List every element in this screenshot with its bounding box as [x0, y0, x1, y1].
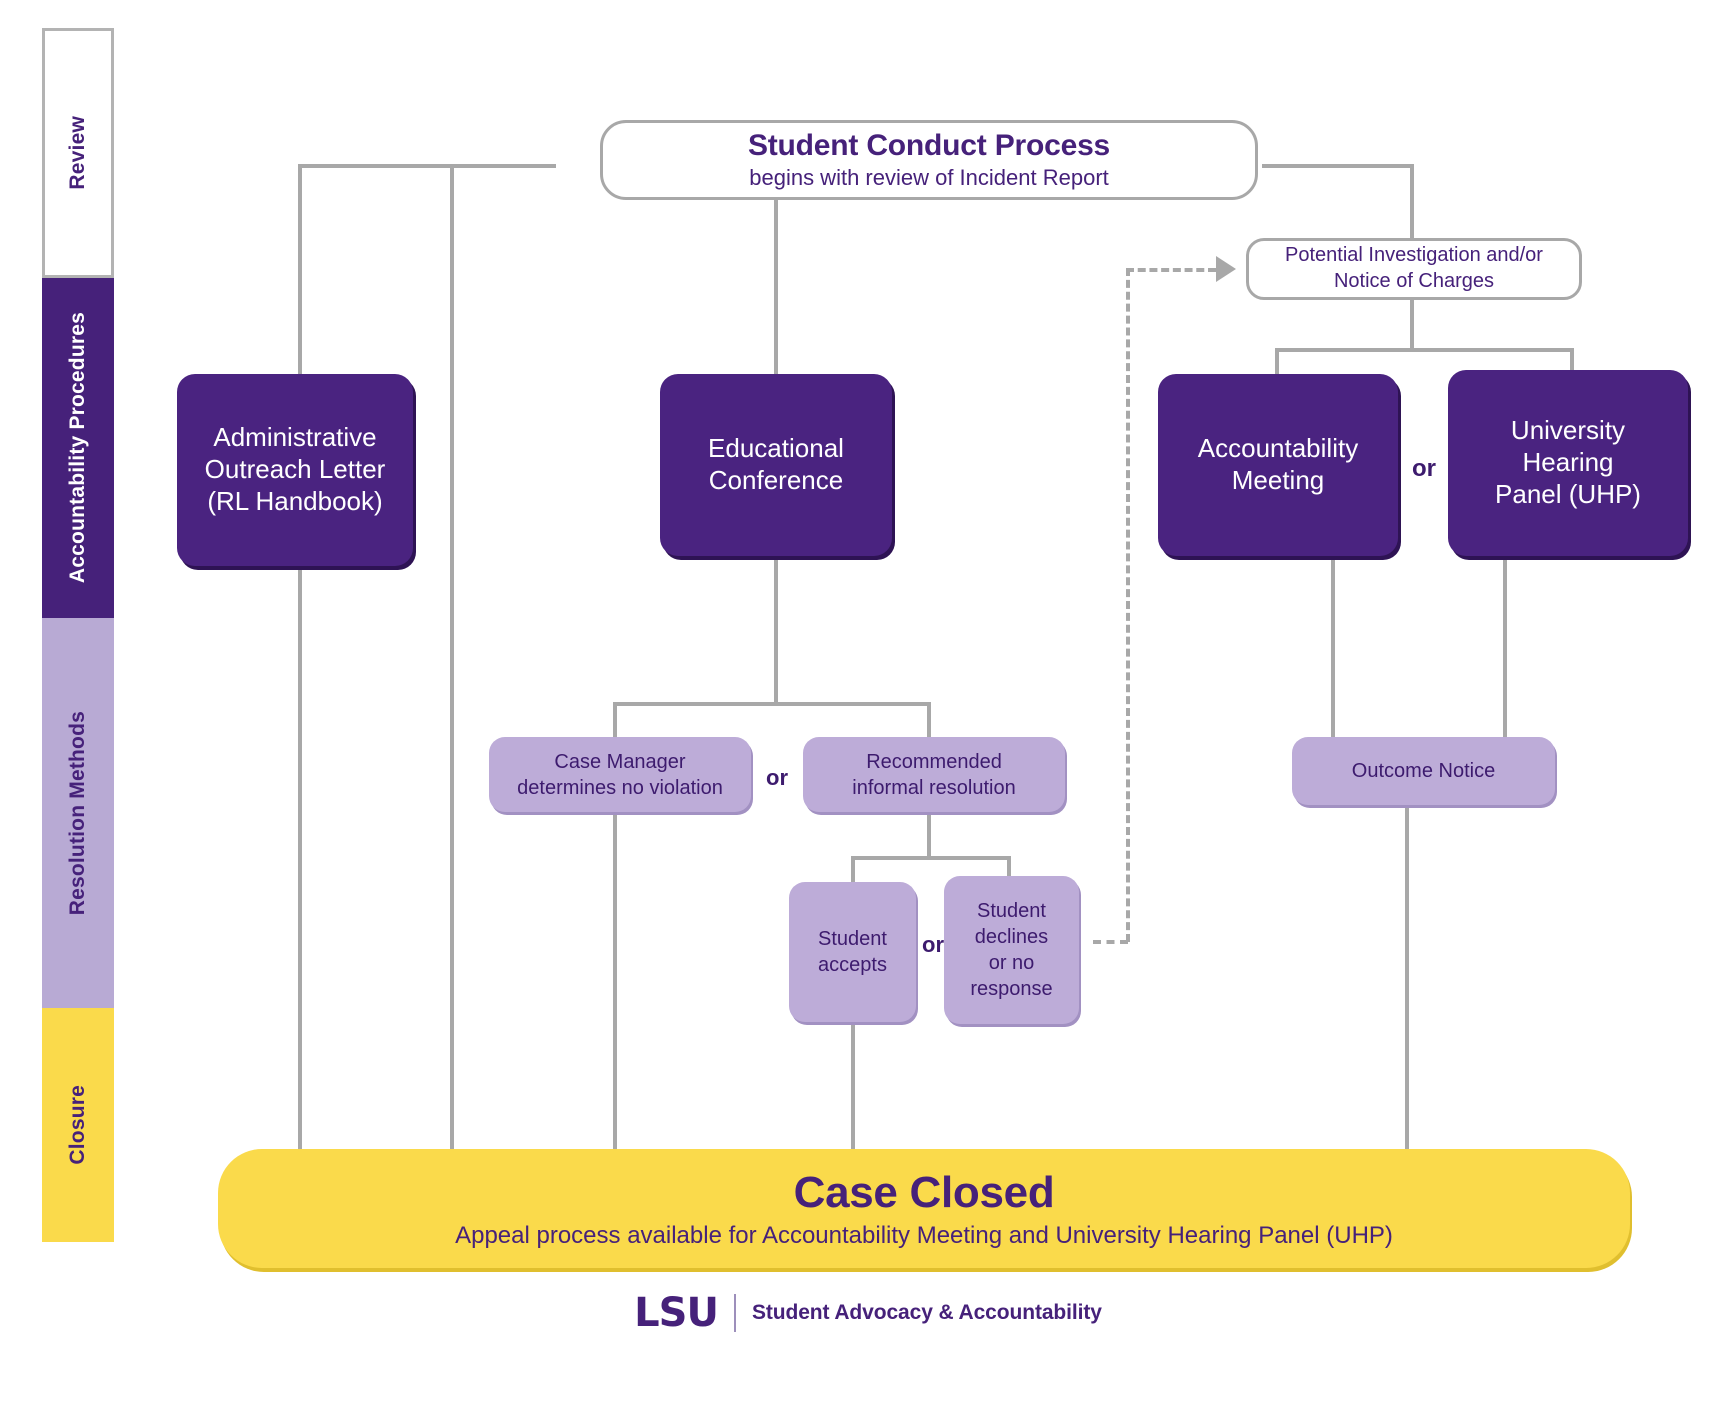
connector-start-right-bus: [1262, 164, 1410, 168]
feedback-dashed-horizontal-bottom: [1093, 940, 1128, 944]
connector-student-accepts-to-case-closed: [851, 1022, 855, 1149]
phase-rail: Review Accountability Procedures Resolut…: [42, 28, 114, 1242]
uhp-line-2: Hearing: [1522, 447, 1613, 479]
node-university-hearing-panel[interactable]: University Hearing Panel (UHP): [1448, 370, 1688, 556]
connector-informal-resolution-drop: [927, 812, 931, 856]
phase-label-accountability-procedures: Accountability Procedures: [66, 312, 90, 583]
informal-resolution-line-2: informal resolution: [852, 775, 1015, 801]
connector-admin-outreach-far-left-drop: [450, 164, 454, 1149]
feedback-dashed-vertical: [1126, 268, 1130, 942]
flowchart-canvas: Review Accountability Procedures Resolut…: [0, 0, 1736, 1402]
connector-meeting-uhp-bus: [1275, 348, 1574, 352]
lsu-footer: LSU Student Advocacy & Accountability: [0, 1290, 1736, 1336]
connector-start-left-bus: [298, 164, 556, 168]
connector-university-hearing-panel-drop: [1503, 554, 1507, 737]
investigation-line-1: Potential Investigation and/or: [1285, 243, 1543, 269]
node-administrative-outreach-letter[interactable]: Administrative Outreach Letter (RL Handb…: [177, 374, 413, 566]
node-educational-conference[interactable]: Educational Conference: [660, 374, 892, 556]
informal-resolution-line-1: Recommended: [866, 749, 1002, 775]
student-accepts-line-2: accepts: [818, 952, 887, 978]
node-student-accepts[interactable]: Student accepts: [789, 882, 916, 1022]
phase-label-review: Review: [66, 116, 90, 190]
connector-resolution-bus: [613, 702, 931, 706]
node-accountability-meeting[interactable]: Accountability Meeting: [1158, 374, 1398, 556]
feedback-dashed-horizontal-top: [1126, 268, 1216, 272]
node-outcome-notice[interactable]: Outcome Notice: [1292, 737, 1555, 805]
phase-label-resolution-methods: Resolution Methods: [66, 711, 90, 915]
or-label-resolution: or: [757, 765, 797, 791]
phase-segment-closure: Closure: [42, 1008, 114, 1242]
connector-accepts-declines-bus: [851, 856, 1011, 860]
accountability-meeting-line-1: Accountability: [1198, 433, 1358, 465]
node-case-closed[interactable]: Case Closed Appeal process available for…: [218, 1149, 1630, 1268]
student-declines-line-2: declines: [975, 924, 1048, 950]
lsu-logo-divider: [734, 1294, 736, 1332]
no-violation-line-2: determines no violation: [517, 775, 723, 801]
connector-admin-outreach-to-case-closed: [298, 566, 302, 1149]
phase-label-closure: Closure: [66, 1085, 90, 1165]
connector-educational-conference-drop: [774, 554, 778, 702]
accountability-meeting-line-2: Meeting: [1232, 465, 1325, 497]
student-accepts-line-1: Student: [818, 926, 887, 952]
student-declines-line-1: Student: [977, 898, 1046, 924]
connector-bus-to-accountability-meeting: [1275, 348, 1279, 376]
outcome-notice-label: Outcome Notice: [1352, 758, 1495, 784]
node-potential-investigation[interactable]: Potential Investigation and/or Notice of…: [1246, 238, 1582, 300]
student-declines-line-4: response: [970, 976, 1052, 1002]
connector-accountability-meeting-to-outcome-notice: [1331, 554, 1335, 737]
connector-to-admin-outreach: [298, 164, 302, 374]
feedback-arrow-icon: [1216, 256, 1236, 282]
connector-bus-to-informal-resolution: [927, 702, 931, 737]
or-label-meeting-uhp: or: [1400, 455, 1448, 483]
node-student-declines[interactable]: Student declines or no response: [944, 876, 1079, 1024]
educational-conference-line-1: Educational: [708, 433, 844, 465]
start-subtitle: begins with review of Incident Report: [749, 165, 1109, 191]
admin-outreach-line-3: (RL Handbook): [207, 486, 382, 518]
phase-segment-accountability-procedures: Accountability Procedures: [42, 278, 114, 618]
case-closed-subtitle: Appeal process available for Accountabil…: [455, 1222, 1393, 1250]
case-closed-title: Case Closed: [794, 1168, 1055, 1218]
connector-start-right-drop: [1410, 164, 1414, 240]
connector-bus-to-university-hearing-panel: [1570, 348, 1574, 370]
start-title: Student Conduct Process: [748, 129, 1110, 163]
connector-bus-to-no-violation: [613, 702, 617, 737]
admin-outreach-line-1: Administrative: [213, 422, 376, 454]
admin-outreach-line-2: Outreach Letter: [205, 454, 386, 486]
phase-segment-resolution-methods: Resolution Methods: [42, 618, 114, 1008]
no-violation-line-1: Case Manager: [554, 749, 685, 775]
educational-conference-line-2: Conference: [709, 465, 843, 497]
student-declines-line-3: or no: [989, 950, 1035, 976]
connector-start-to-educational-conference: [774, 196, 778, 374]
connector-no-violation-to-case-closed: [613, 812, 617, 1149]
phase-segment-review: Review: [42, 28, 114, 278]
uhp-line-1: University: [1511, 415, 1625, 447]
node-student-conduct-process[interactable]: Student Conduct Process begins with revi…: [600, 120, 1258, 200]
node-case-manager-no-violation[interactable]: Case Manager determines no violation: [489, 737, 751, 812]
connector-bus-to-student-accepts: [851, 856, 855, 882]
connector-outcome-notice-to-case-closed: [1405, 805, 1409, 1149]
lsu-logo-mark: LSU: [634, 1290, 718, 1336]
uhp-line-3: Panel (UHP): [1495, 479, 1641, 511]
node-recommended-informal-resolution[interactable]: Recommended informal resolution: [803, 737, 1065, 812]
investigation-line-2: Notice of Charges: [1334, 269, 1494, 295]
lsu-unit-name: Student Advocacy & Accountability: [752, 1301, 1102, 1325]
